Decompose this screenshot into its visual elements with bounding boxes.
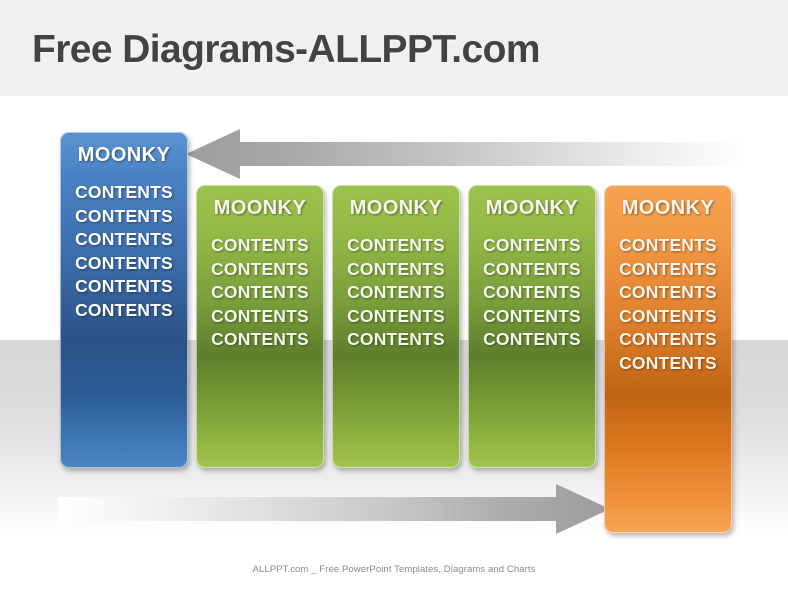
footer-credit: ALLPPT.com _ Free PowerPoint Templates, … [0,564,788,575]
card-1-title: MOONKY [66,144,182,167]
card-3-line-2: CONTENTS [338,258,454,282]
card-4-line-3: CONTENTS [474,281,590,305]
card-3-line-3: CONTENTS [338,281,454,305]
card-4-line-2: CONTENTS [474,258,590,282]
card-1-line-5: CONTENTS [66,275,182,299]
card-5-line-1: CONTENTS [610,234,726,258]
slide-canvas: Free Diagrams-ALLPPT.com [0,0,788,591]
card-3-line-5: CONTENTS [338,328,454,352]
card-5-line-2: CONTENTS [610,258,726,282]
card-2-line-1: CONTENTS [202,234,318,258]
card-4-title: MOONKY [474,197,590,220]
card-1-line-4: CONTENTS [66,252,182,276]
card-5-line-5: CONTENTS [610,328,726,352]
card-1-line-3: CONTENTS [66,228,182,252]
card-3-line-1: CONTENTS [338,234,454,258]
card-4-line-4: CONTENTS [474,305,590,329]
card-1[interactable]: MOONKY CONTENTS CONTENTS CONTENTS CONTEN… [60,132,188,468]
card-2-lines: CONTENTS CONTENTS CONTENTS CONTENTS CONT… [202,234,318,352]
card-2-line-5: CONTENTS [202,328,318,352]
card-5-line-4: CONTENTS [610,305,726,329]
card-5-line-6: CONTENTS [610,352,726,376]
card-3-line-4: CONTENTS [338,305,454,329]
card-4-line-5: CONTENTS [474,328,590,352]
card-5[interactable]: MOONKY CONTENTS CONTENTS CONTENTS CONTEN… [604,185,732,533]
top-arrow-left [186,128,746,180]
card-2-line-4: CONTENTS [202,305,318,329]
card-5-lines: CONTENTS CONTENTS CONTENTS CONTENTS CONT… [610,234,726,375]
page-title: Free Diagrams-ALLPPT.com [32,28,540,72]
card-2-line-3: CONTENTS [202,281,318,305]
card-4-lines: CONTENTS CONTENTS CONTENTS CONTENTS CONT… [474,234,590,352]
card-3-lines: CONTENTS CONTENTS CONTENTS CONTENTS CONT… [338,234,454,352]
card-1-line-6: CONTENTS [66,299,182,323]
card-3-title: MOONKY [338,197,454,220]
card-5-line-3: CONTENTS [610,281,726,305]
card-2[interactable]: MOONKY CONTENTS CONTENTS CONTENTS CONTEN… [196,185,324,468]
bottom-arrow-right [58,483,610,535]
card-2-title: MOONKY [202,197,318,220]
card-2-line-2: CONTENTS [202,258,318,282]
card-4-line-1: CONTENTS [474,234,590,258]
card-1-lines: CONTENTS CONTENTS CONTENTS CONTENTS CONT… [66,181,182,322]
card-1-line-2: CONTENTS [66,205,182,229]
card-3[interactable]: MOONKY CONTENTS CONTENTS CONTENTS CONTEN… [332,185,460,468]
card-1-line-1: CONTENTS [66,181,182,205]
card-5-title: MOONKY [610,197,726,220]
card-4[interactable]: MOONKY CONTENTS CONTENTS CONTENTS CONTEN… [468,185,596,468]
